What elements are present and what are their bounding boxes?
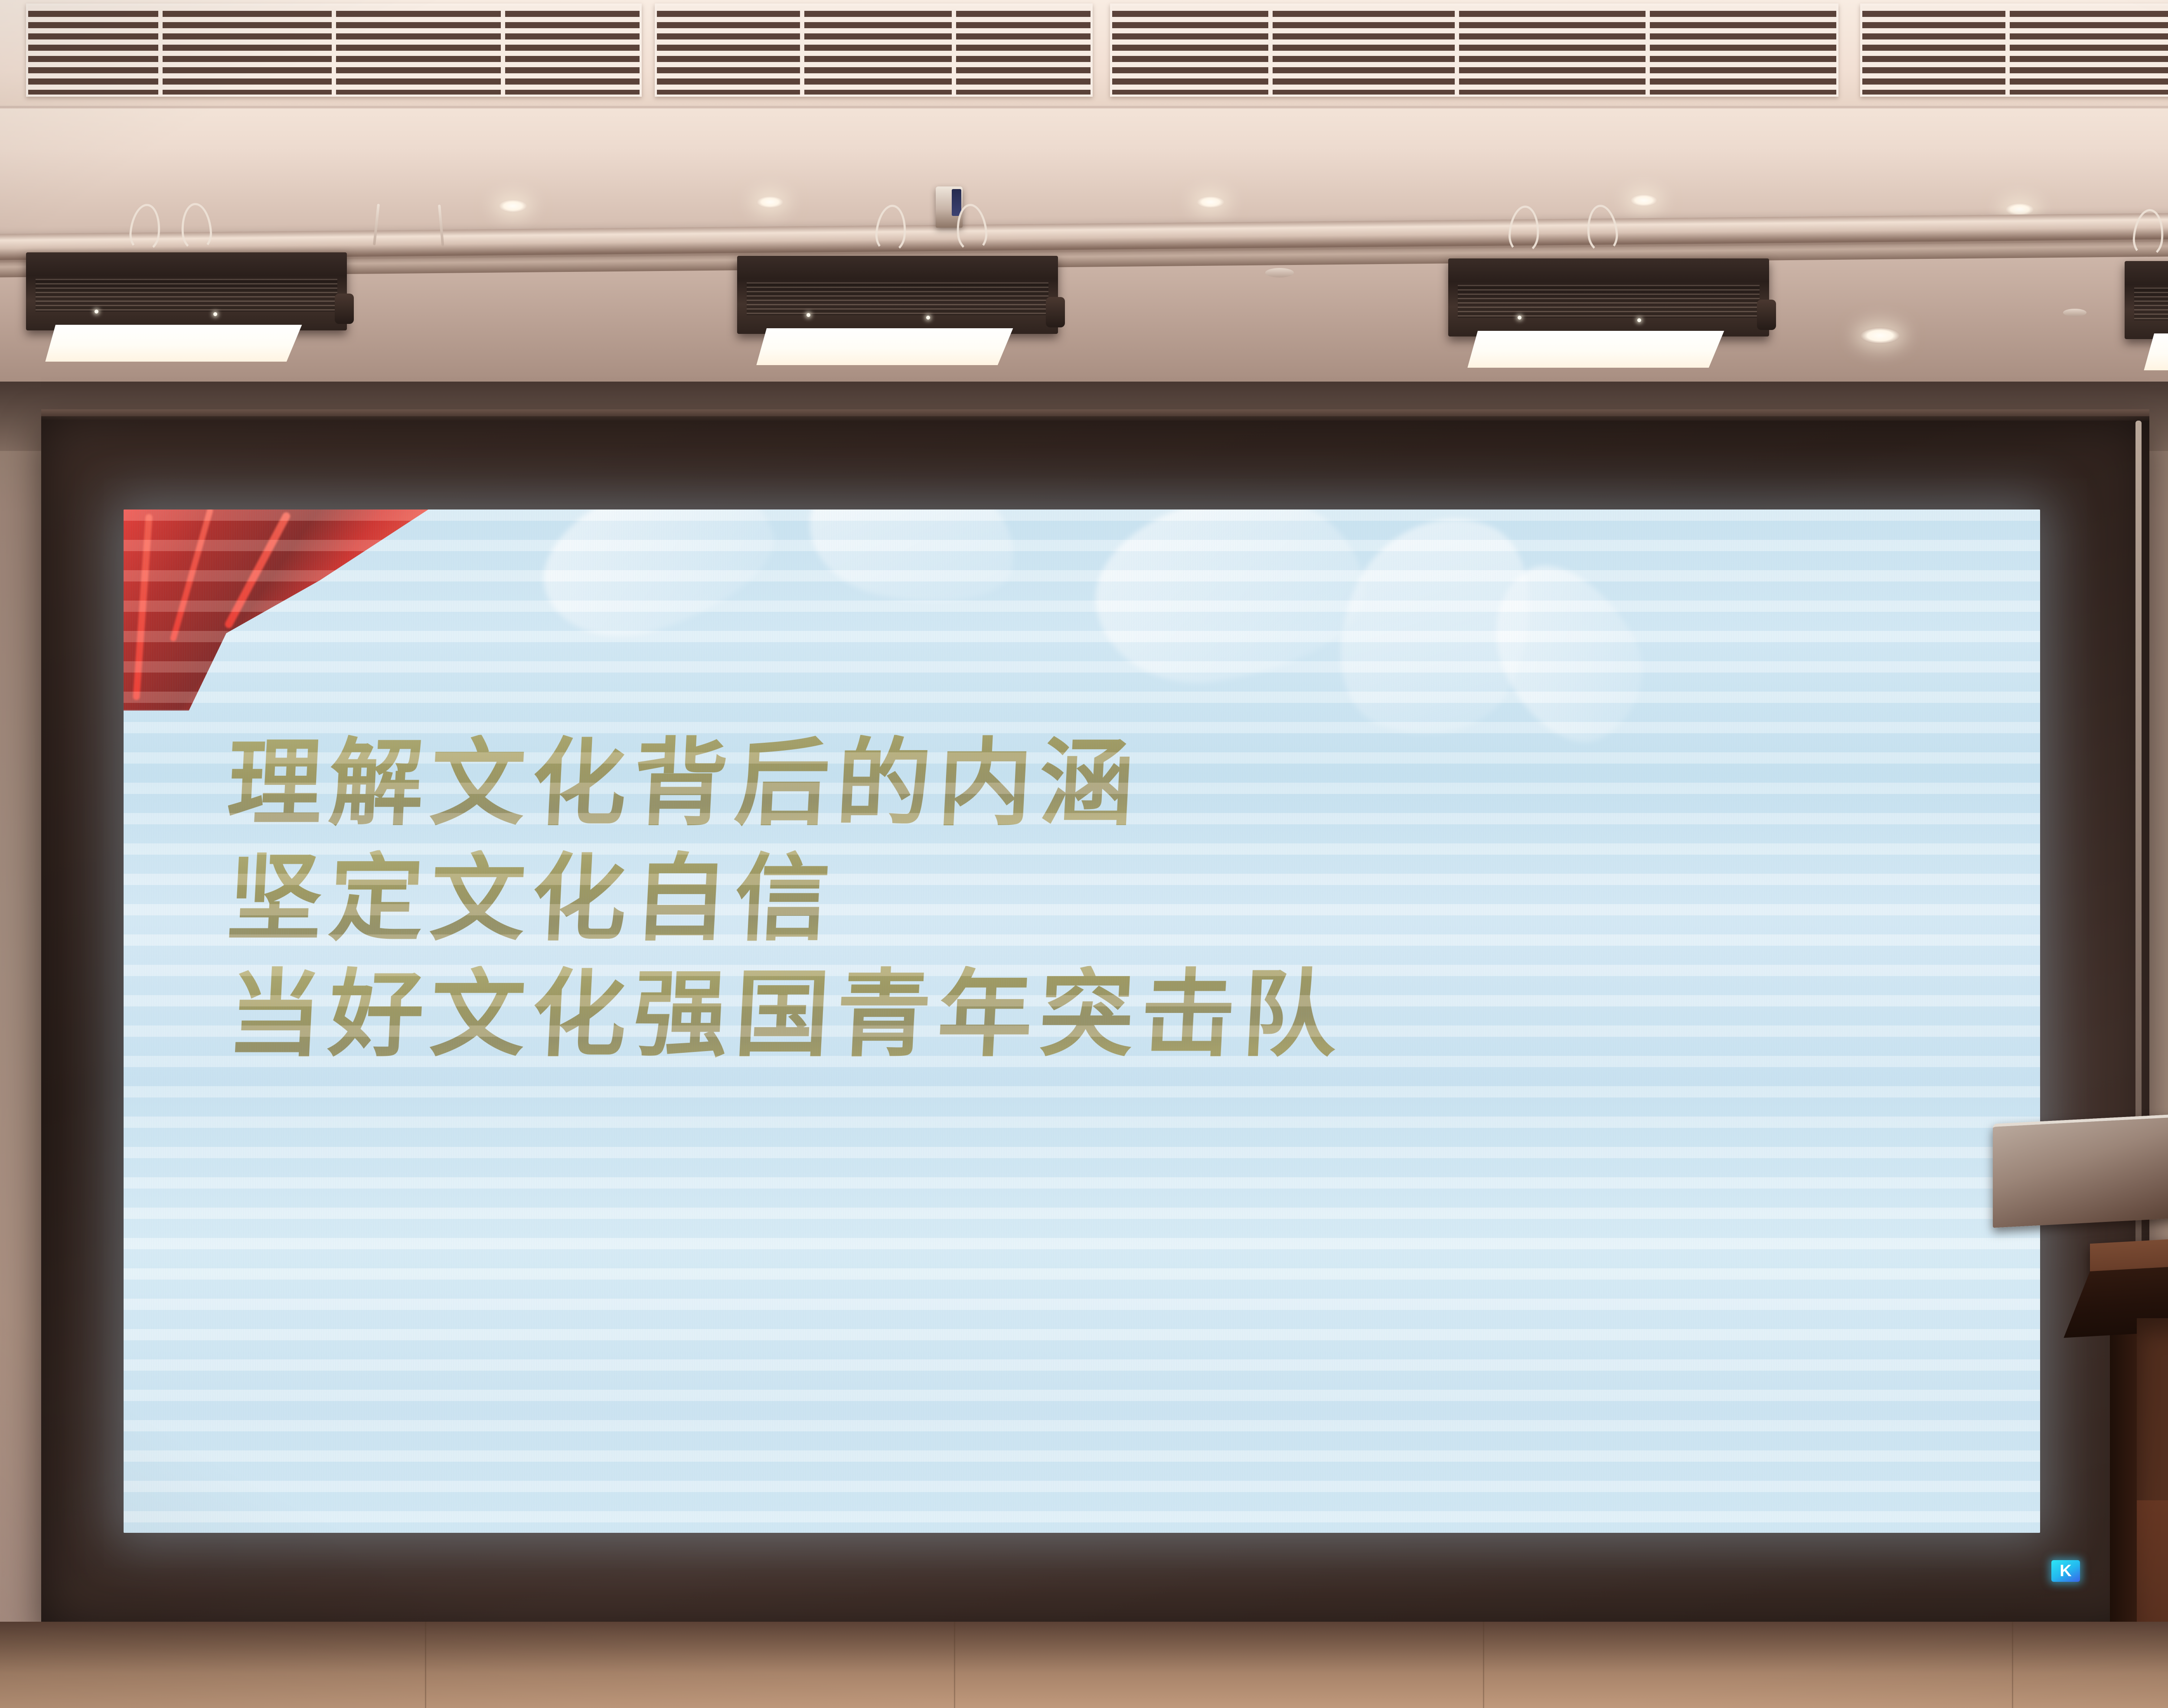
stage-light-fixture xyxy=(737,256,1058,364)
slide-line-1: 理解文化背后的内涵 xyxy=(225,735,1921,831)
decorative-petal xyxy=(523,509,790,659)
laptop[interactable]: hp xyxy=(1993,1117,2168,1221)
stage-skirt xyxy=(0,1622,2168,1708)
recessed-downlight-icon xyxy=(2005,203,2034,216)
presentation-slide[interactable]: 理解文化背后的内涵 坚定文化自信 当好文化强国青年突击队 xyxy=(124,509,2040,1533)
ceiling-air-vent xyxy=(26,3,642,97)
led-screen-frame: 理解文化背后的内涵 坚定文化自信 当好文化强国青年突击队 K xyxy=(41,416,2149,1630)
ceiling-air-vent xyxy=(1860,3,2168,97)
recessed-downlight-icon xyxy=(499,199,527,212)
slide-line-2: 坚定文化自信 xyxy=(225,850,1921,947)
stage-light-fixture xyxy=(26,252,347,361)
laptop-lid xyxy=(1993,1110,2168,1228)
stage-light-fixture xyxy=(1448,258,1769,367)
ceiling-air-vent xyxy=(655,3,1093,97)
slide-headline-block: 理解文化背后的内涵 坚定文化自信 当好文化强国青年突击队 xyxy=(228,735,1919,1062)
recessed-downlight-icon xyxy=(1197,196,1224,208)
auditorium-scene: 理解文化背后的内涵 坚定文化自信 当好文化强国青年突击队 K xyxy=(0,0,2168,1708)
recessed-downlight-icon xyxy=(1860,327,1900,344)
smoke-detector-icon xyxy=(2063,309,2086,317)
decorative-petal xyxy=(1084,509,1375,696)
smoke-detector-icon xyxy=(1265,268,1294,278)
kingsoft-wps-logo-icon: K xyxy=(2051,1560,2080,1582)
stage-light-fixture xyxy=(2125,261,2168,369)
recessed-downlight-icon xyxy=(1630,194,1657,206)
ceiling-air-vent xyxy=(1110,3,1838,97)
recessed-downlight-icon xyxy=(757,196,784,208)
decorative-petal xyxy=(797,509,1028,621)
slide-line-3: 当好文化强国青年突击队 xyxy=(225,966,1921,1062)
